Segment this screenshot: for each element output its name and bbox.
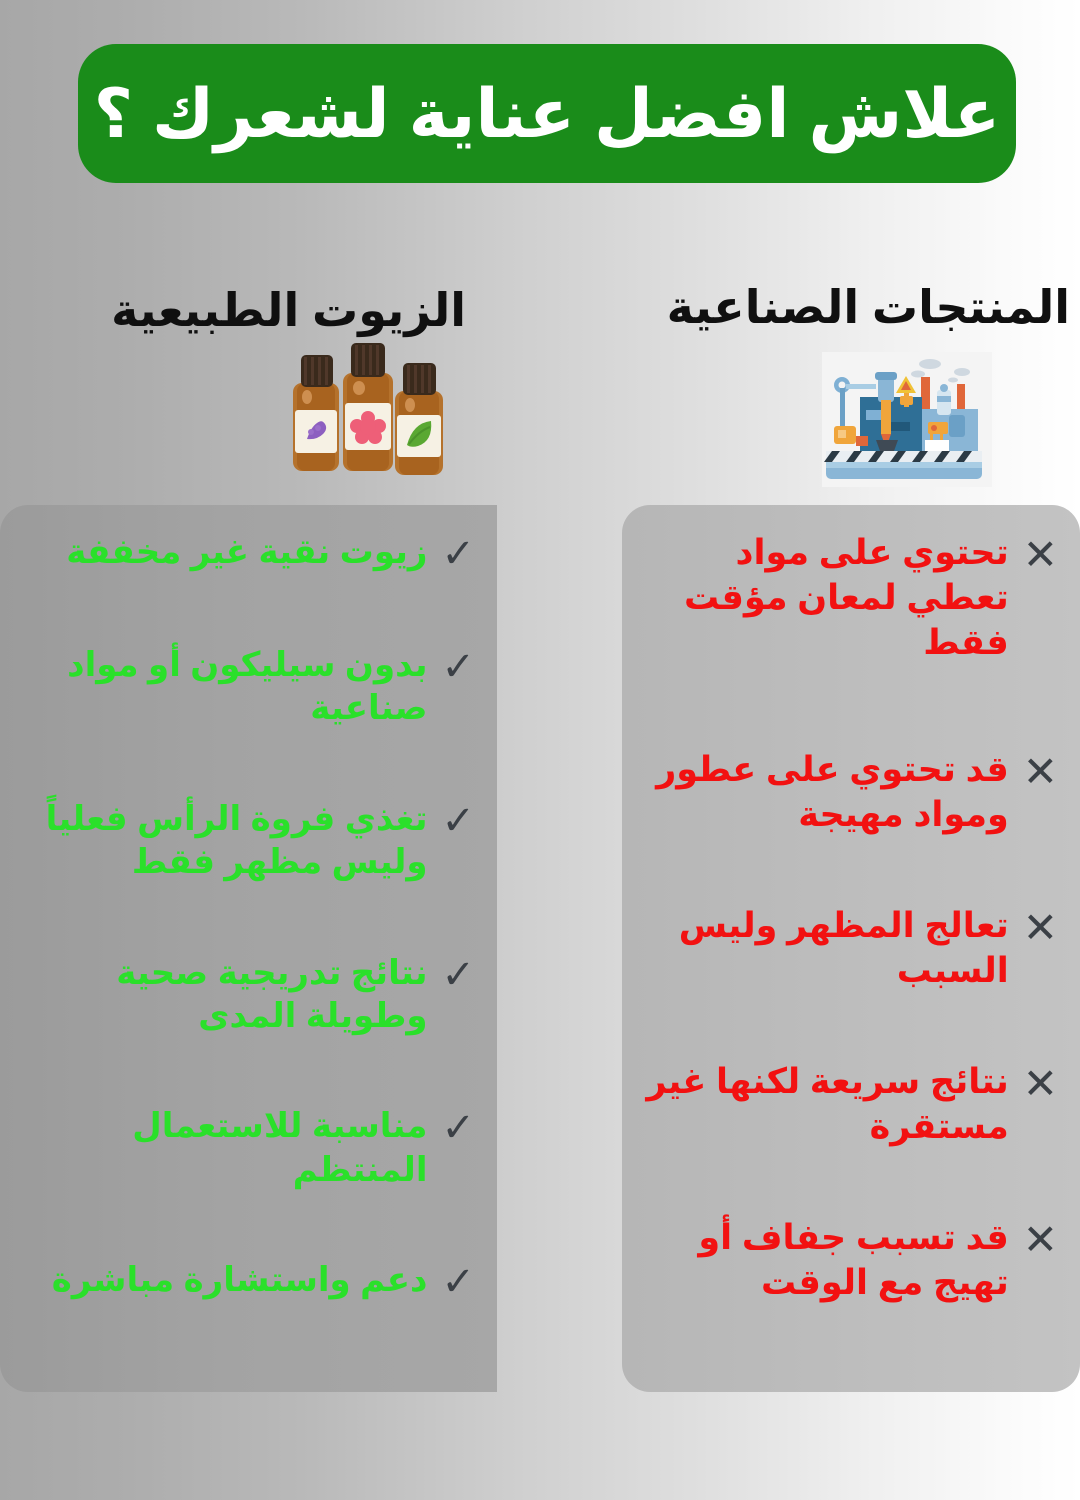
check-icon: ✓	[441, 952, 475, 998]
column-heading-natural: الزيوت الطبيعية	[111, 283, 466, 337]
list-item: ✓ زيوت نقية غير مخففة	[22, 531, 475, 644]
industrial-products-list: ✕ تحتوي على مواد تعطي لمعان مؤقت فقط ✕ ق…	[622, 505, 1080, 1392]
list-item-label: بدون سيليكون أو مواد صناعية	[22, 644, 427, 731]
list-item-label: دعم واستشارة مباشرة	[22, 1259, 427, 1303]
list-item-label: تعالج المظهر وليس السبب	[644, 904, 1009, 994]
title-banner: علاش افضل عناية لشعرك ؟	[78, 44, 1016, 183]
list-item: ✓ بدون سيليكون أو مواد صناعية	[22, 644, 475, 798]
industrial-products-card: ✕ تحتوي على مواد تعطي لمعان مؤقت فقط ✕ ق…	[622, 505, 1080, 1392]
cross-icon: ✕	[1023, 1060, 1058, 1108]
cross-icon: ✕	[1023, 748, 1058, 796]
check-icon: ✓	[441, 1105, 475, 1151]
list-item-label: زيوت نقية غير مخففة	[22, 531, 427, 575]
cross-icon: ✕	[1023, 904, 1058, 952]
essential-oil-bottles-icon	[267, 335, 467, 490]
list-item: ✓ دعم واستشارة مباشرة	[22, 1259, 475, 1372]
column-heading-industrial: المنتجات الصناعية	[667, 280, 1070, 334]
list-item: ✕ تعالج المظهر وليس السبب	[644, 904, 1058, 1060]
list-item-label: تحتوي على مواد تعطي لمعان مؤقت فقط	[644, 531, 1009, 665]
natural-oils-card: ✓ زيوت نقية غير مخففة ✓ بدون سيليكون أو …	[0, 505, 497, 1392]
cross-icon: ✕	[1023, 1216, 1058, 1264]
list-item-label: مناسبة للاستعمال المنتظم	[22, 1105, 427, 1192]
check-icon: ✓	[441, 644, 475, 690]
list-item: ✕ قد تحتوي على عطور ومواد مهيجة	[644, 748, 1058, 904]
list-item-label: نتائج تدريجية صحية وطويلة المدى	[22, 952, 427, 1039]
list-item: ✓ تغذي فروة الرأس فعلياً وليس مظهر فقط	[22, 798, 475, 952]
check-icon: ✓	[441, 1259, 475, 1305]
natural-oils-list: ✓ زيوت نقية غير مخففة ✓ بدون سيليكون أو …	[0, 505, 497, 1392]
list-item: ✕ تحتوي على مواد تعطي لمعان مؤقت فقط	[644, 531, 1058, 748]
check-icon: ✓	[441, 798, 475, 844]
list-item: ✓ نتائج تدريجية صحية وطويلة المدى	[22, 952, 475, 1106]
list-item-label: نتائج سريعة لكنها غير مستقرة	[644, 1060, 1009, 1150]
check-icon: ✓	[441, 531, 475, 577]
list-item-label: قد تسبب جفاف أو تهيج مع الوقت	[644, 1216, 1009, 1306]
list-item: ✕ نتائج سريعة لكنها غير مستقرة	[644, 1060, 1058, 1216]
cross-icon: ✕	[1023, 531, 1058, 579]
list-item-label: تغذي فروة الرأس فعلياً وليس مظهر فقط	[22, 798, 427, 885]
factory-machinery-icon	[822, 352, 992, 487]
page-title: علاش افضل عناية لشعرك ؟	[94, 80, 1001, 148]
list-item-label: قد تحتوي على عطور ومواد مهيجة	[644, 748, 1009, 838]
list-item: ✓ مناسبة للاستعمال المنتظم	[22, 1105, 475, 1259]
list-item: ✕ قد تسبب جفاف أو تهيج مع الوقت	[644, 1216, 1058, 1372]
